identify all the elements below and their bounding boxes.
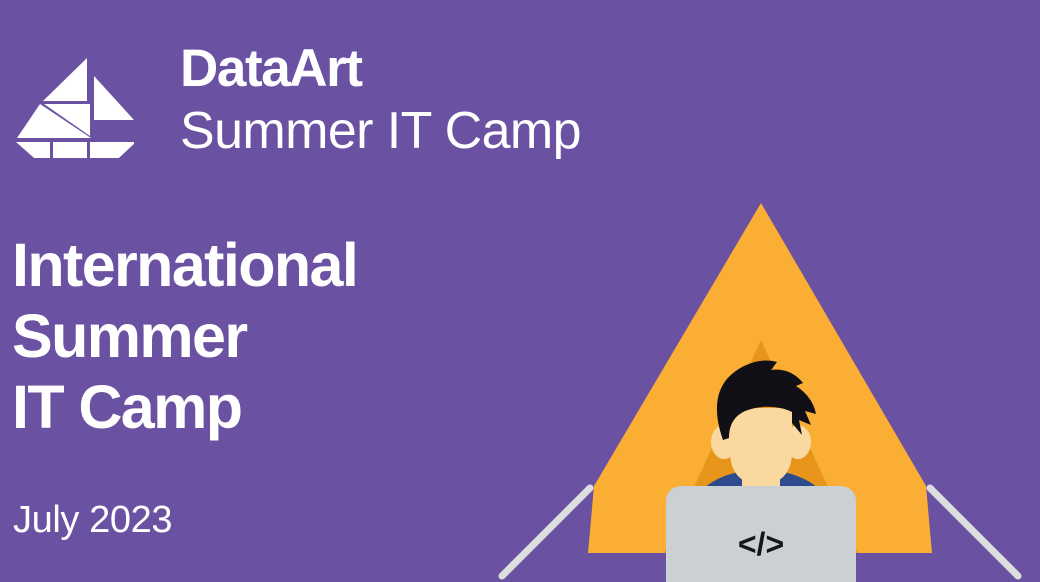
tent-with-developer-illustration: </> (480, 180, 1040, 582)
dataart-tangram-sailboat-logo-icon (14, 38, 134, 158)
guy-rope-right-icon (930, 488, 1018, 576)
brand-text-group: DataArt Summer IT Camp (180, 42, 581, 157)
guy-rope-left-icon (502, 488, 590, 576)
brand-subtitle: Summer IT Camp (180, 105, 581, 157)
event-date: July 2023 (13, 499, 172, 542)
headline-line-1: International (12, 230, 357, 301)
laptop-code-glyph: </> (738, 526, 784, 562)
brand-lockup: DataArt Summer IT Camp (14, 38, 581, 158)
headline-line-3: IT Camp (12, 372, 357, 443)
person-face (730, 408, 792, 485)
headline-line-2: Summer (12, 301, 357, 372)
brand-name: DataArt (180, 42, 581, 95)
page-title: International Summer IT Camp (12, 230, 357, 442)
poster-canvas: DataArt Summer IT Camp International Sum… (0, 0, 1040, 582)
